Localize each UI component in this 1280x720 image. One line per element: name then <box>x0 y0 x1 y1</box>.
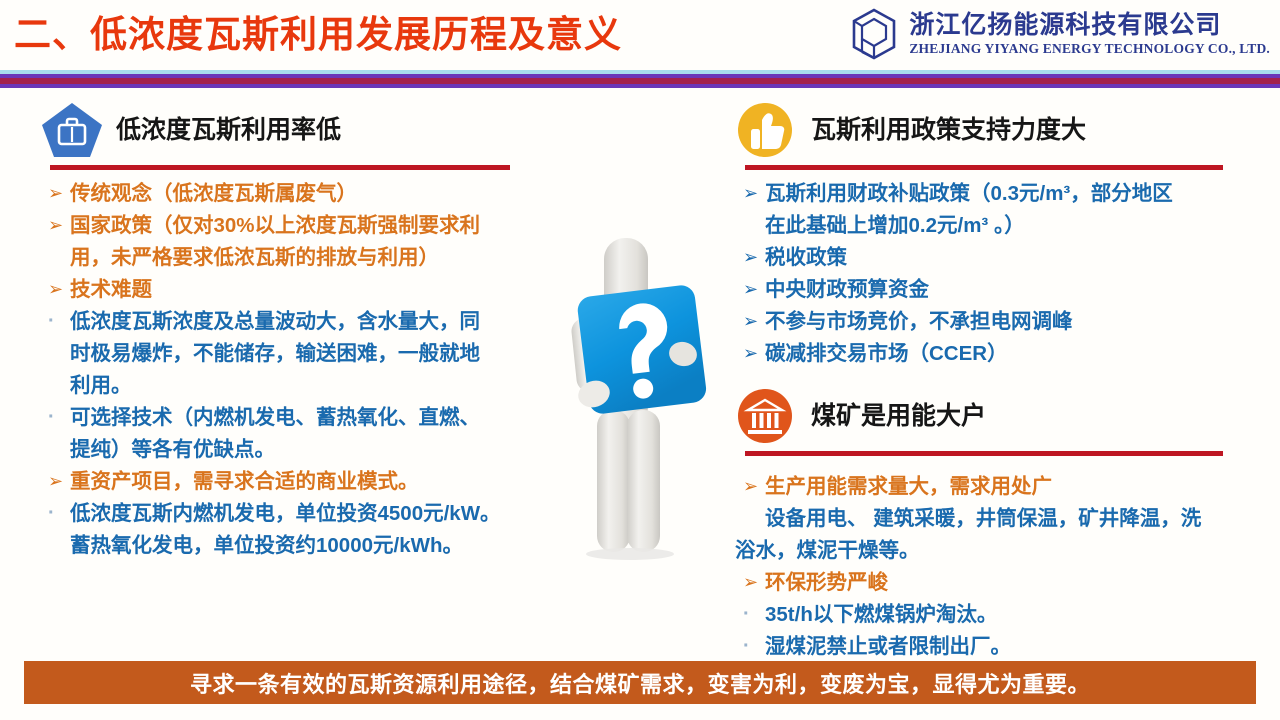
list-item: ·可选择技术（内燃机发电、蓄热氧化、直燃、 <box>40 402 560 433</box>
list-item: ➢生产用能需求量大，需求用处广 <box>735 471 1260 502</box>
list-item: ➢碳减排交易市场（CCER） <box>735 338 1260 369</box>
bullet-arrow-icon: ➢ <box>735 471 765 502</box>
bullet-arrow-icon: ➢ <box>40 178 70 209</box>
bullet-arrow-icon: ➢ <box>735 338 765 369</box>
bullet-arrow-icon: ➢ <box>40 274 70 305</box>
list-item-continuation: 在此基础上增加0.2元/m³ 。） <box>735 210 1260 241</box>
list-item: ➢技术难题 <box>40 274 560 305</box>
bullet-dot-icon: · <box>735 599 765 630</box>
left-bullet-list: ➢传统观念（低浓度瓦斯属废气） ➢国家政策（仅对30%以上浓度瓦斯强制要求利 用… <box>40 178 560 561</box>
right-bullet-list-two: ➢生产用能需求量大，需求用处广 设备用电、 建筑采暖，井筒保温，矿井降温，洗 浴… <box>735 471 1260 662</box>
left-section-title: 低浓度瓦斯利用率低 <box>116 115 341 145</box>
list-item-continuation: 蓄热氧化发电，单位投资约10000元/kWh。 <box>40 530 560 561</box>
list-item-continuation: 浴水，煤泥干燥等。 <box>735 535 1260 566</box>
bottom-conclusion-banner: 寻求一条有效的瓦斯资源利用途径，结合煤矿需求，变害为利，变废为宝，显得尤为重要。 <box>24 661 1256 704</box>
briefcase-pentagon-icon <box>40 101 104 159</box>
right-section-one-header: 瓦斯利用政策支持力度大 <box>735 100 1260 160</box>
header-rule-crimson <box>0 78 1280 84</box>
right-section-one-title: 瓦斯利用政策支持力度大 <box>811 115 1086 145</box>
list-item-continuation: 用，未严格要求低浓瓦斯的排放与利用） <box>40 242 560 273</box>
bullet-arrow-icon: ➢ <box>735 306 765 337</box>
slide-canvas: 二、低浓度瓦斯利用发展历程及意义 浙江亿扬能源科技有限公司 ZHEJIANG Y… <box>0 0 1280 720</box>
list-item: ➢中央财政预算资金 <box>735 274 1260 305</box>
list-item: ➢环保形势严峻 <box>735 567 1260 598</box>
bank-building-circle-icon <box>735 387 799 445</box>
hexagon-cube-logo-icon <box>851 8 897 60</box>
bullet-dot-icon: · <box>735 631 765 662</box>
list-item-continuation: 提纯）等各有优缺点。 <box>40 434 560 465</box>
list-spacer <box>735 464 1260 471</box>
list-item-continuation: 利用。 <box>40 370 560 401</box>
list-item-continuation: 设备用电、 建筑采暖，井筒保温，矿井降温，洗 <box>735 503 1260 534</box>
bullet-arrow-icon: ➢ <box>735 242 765 273</box>
company-name-en: ZHEJIANG YIYANG ENERGY TECHNOLOGY CO., L… <box>909 40 1270 57</box>
right-section-two-title: 煤矿是用能大户 <box>811 401 986 431</box>
company-name-cn: 浙江亿扬能源科技有限公司 <box>909 11 1270 40</box>
left-column: 低浓度瓦斯利用率低 ➢传统观念（低浓度瓦斯属废气） ➢国家政策（仅对30%以上浓… <box>40 100 560 562</box>
bullet-arrow-icon: ➢ <box>40 466 70 497</box>
right-column: 瓦斯利用政策支持力度大 ➢瓦斯利用财政补贴政策（0.3元/m³，部分地区 在此基… <box>735 100 1260 663</box>
bullet-arrow-icon: ➢ <box>40 210 70 241</box>
bullet-dot-icon: · <box>40 498 70 529</box>
list-item: ➢重资产项目，需寻求合适的商业模式。 <box>40 466 560 497</box>
list-item-continuation: 时极易爆炸，不能储存，输送困难，一般就地 <box>40 338 560 369</box>
list-item: ➢瓦斯利用财政补贴政策（0.3元/m³，部分地区 <box>735 178 1260 209</box>
list-item: ➢不参与市场竞价，不承担电网调峰 <box>735 306 1260 337</box>
company-logo: 浙江亿扬能源科技有限公司 ZHEJIANG YIYANG ENERGY TECH… <box>851 8 1270 60</box>
left-section-header: 低浓度瓦斯利用率低 <box>40 100 560 160</box>
bottom-banner-text: 寻求一条有效的瓦斯资源利用途径，结合煤矿需求，变害为利，变废为宝，显得尤为重要。 <box>190 667 1090 699</box>
right-section-two-header: 煤矿是用能大户 <box>735 386 1260 446</box>
list-item: ➢国家政策（仅对30%以上浓度瓦斯强制要求利 <box>40 210 560 241</box>
list-item: ➢税收政策 <box>735 242 1260 273</box>
list-item: ·低浓度瓦斯浓度及总量波动大，含水量大，同 <box>40 306 560 337</box>
thumbs-up-circle-icon <box>735 101 799 159</box>
list-item: ➢传统观念（低浓度瓦斯属废气） <box>40 178 560 209</box>
bullet-arrow-icon: ➢ <box>735 178 765 209</box>
section-spacer <box>735 370 1260 386</box>
bullet-dot-icon: · <box>40 306 70 337</box>
left-section-underline <box>50 165 510 170</box>
right-section-one-underline <box>745 165 1223 170</box>
list-item: ·低浓度瓦斯内燃机发电，单位投资4500元/kW。 <box>40 498 560 529</box>
right-bullet-list-one: ➢瓦斯利用财政补贴政策（0.3元/m³，部分地区 在此基础上增加0.2元/m³ … <box>735 178 1260 369</box>
bullet-arrow-icon: ➢ <box>735 274 765 305</box>
page-title: 二、低浓度瓦斯利用发展历程及意义 <box>14 12 622 58</box>
list-item: ·35t/h以下燃煤锅炉淘汰。 <box>735 599 1260 630</box>
bullet-arrow-icon: ➢ <box>735 567 765 598</box>
list-item: ·湿煤泥禁止或者限制出厂。 <box>735 631 1260 662</box>
right-section-two-underline <box>745 451 1223 456</box>
bullet-dot-icon: · <box>40 402 70 433</box>
person-holding-question-sign-icon <box>548 232 734 562</box>
